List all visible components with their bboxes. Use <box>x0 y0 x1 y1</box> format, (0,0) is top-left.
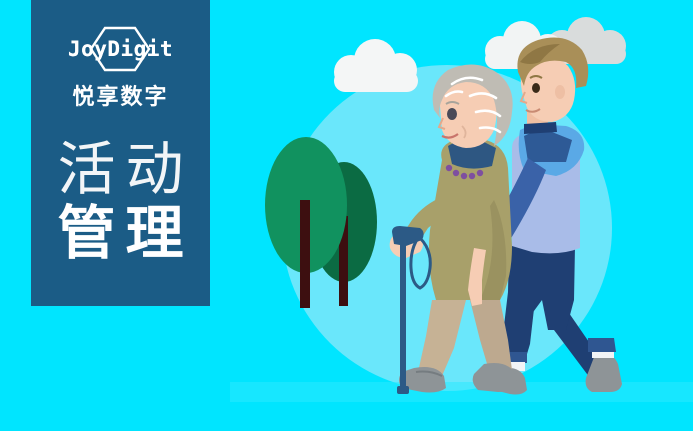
title-panel: JoyDigit 悦享数字 活动 管理 <box>31 0 210 306</box>
page-title-line-2: 管理 <box>31 201 210 265</box>
cane-shaft <box>400 244 406 394</box>
poster-canvas: JoyDigit 悦享数字 活动 管理 <box>0 0 693 431</box>
ground-strip <box>230 382 693 402</box>
page-title-line-1: 活动 <box>31 137 210 201</box>
man-ear <box>555 85 565 99</box>
man-shirt-collar <box>524 122 557 134</box>
brand-logo: JoyDigit <box>51 26 191 72</box>
woman-eye <box>447 108 457 120</box>
brand-wordmark: JoyDigit <box>68 26 173 72</box>
cane-tip <box>397 386 409 394</box>
brand-subtitle: 悦享数字 <box>72 79 168 111</box>
page-title: 活动 管理 <box>31 137 210 265</box>
man-eye <box>532 83 540 93</box>
man-back-cuff <box>588 338 616 352</box>
